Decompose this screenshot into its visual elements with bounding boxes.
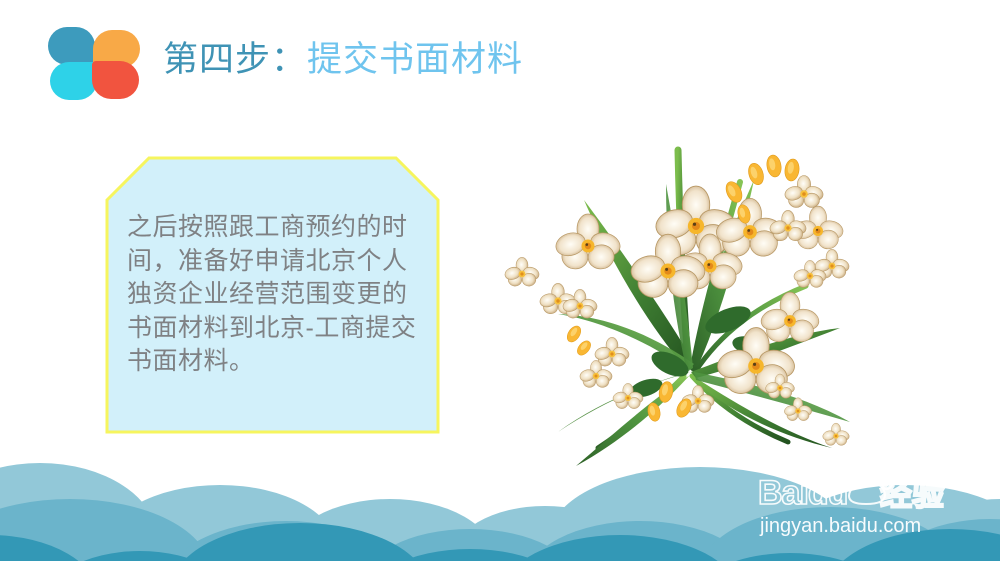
- logo-petal-bottom-left-icon: [50, 62, 97, 100]
- narcissus-flower-bouquet-illustration: [488, 136, 888, 481]
- text-callout-box: 之后按照跟工商预约的时 间，准备好申请北京个人 独资企业经营范围变更的 书面材料…: [105, 156, 440, 434]
- logo-petal-bottom-right-icon: [92, 61, 139, 99]
- slide-header: 第四步：提交书面材料: [0, 0, 1000, 118]
- cloud-decoration-footer: [0, 431, 1000, 561]
- page-title-main: 提交书面材料: [307, 40, 523, 79]
- callout-body-text: 之后按照跟工商预约的时 间，准备好申请北京个人 独资企业经营范围变更的 书面材料…: [127, 211, 423, 379]
- page-title-prefix: 第四步：: [163, 40, 307, 79]
- four-petal-flower-logo-icon: [48, 27, 140, 99]
- cloud-shapes: [0, 431, 1000, 561]
- logo-petal-top-left-icon: [48, 27, 95, 65]
- flower-bouquet-graphic: [488, 136, 888, 481]
- page-title: 第四步：提交书面材料: [163, 38, 523, 82]
- slide-canvas: 第四步：提交书面材料 之后按照跟工商预约的时 间，准备好申请北京个人 独资企业经…: [0, 0, 1000, 561]
